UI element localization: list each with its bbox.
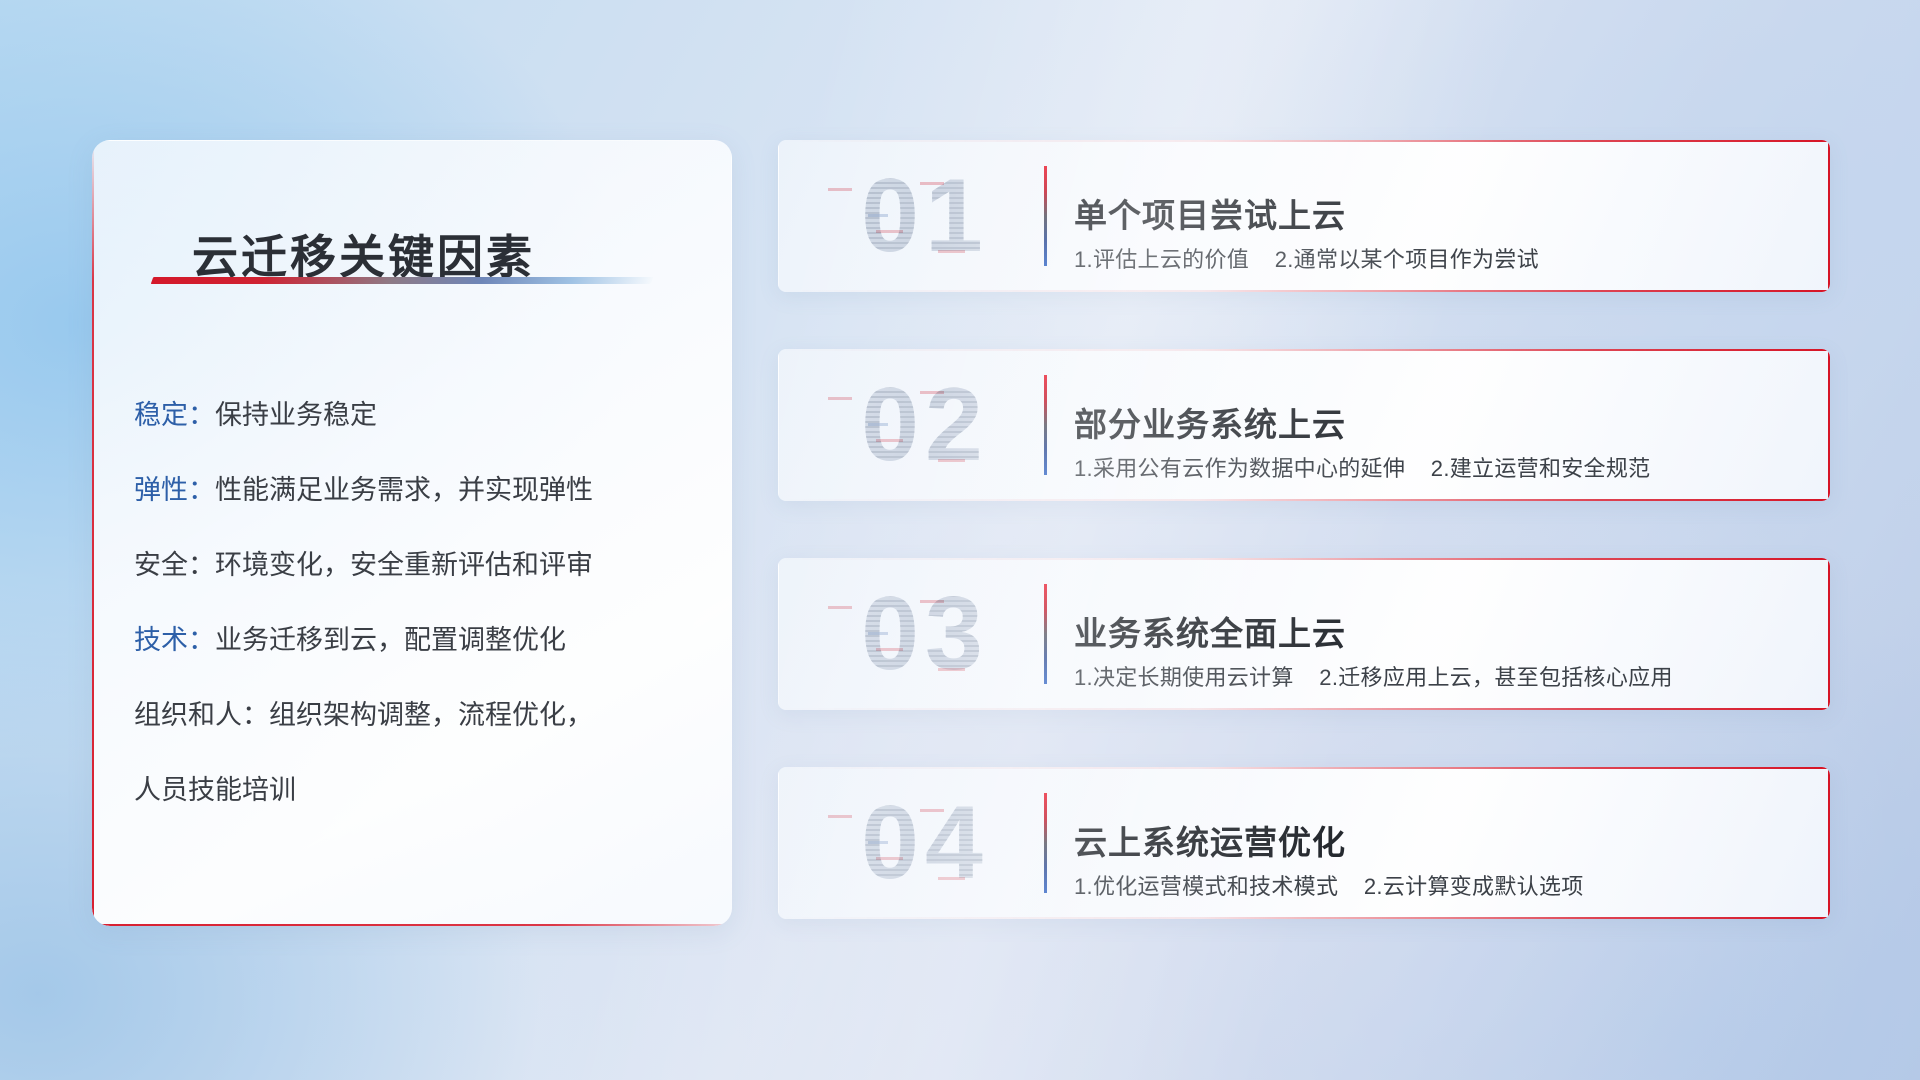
key-factor-label: 组织和人： (134, 700, 269, 730)
key-factor-value: 人员技能培训 (134, 775, 296, 805)
stage-number: 01 (820, 152, 1030, 280)
stage-divider-bar (1044, 375, 1047, 475)
key-factor-label: 稳定： (134, 400, 215, 430)
key-factor-label: 弹性： (134, 475, 215, 505)
stage-card[interactable]: 04云上系统运营优化1.优化运营模式和技术模式 2.云计算变成默认选项 (778, 767, 1830, 919)
stage-divider-bar (1044, 584, 1047, 684)
key-factor-line: 稳定：保持业务稳定 (134, 378, 706, 453)
key-factor-value: 组织架构调整，流程优化， (269, 700, 593, 730)
key-factor-line: 组织和人：组织架构调整，流程优化， (134, 678, 706, 753)
stage-title: 云上系统运营优化 (1074, 816, 1346, 864)
stage-card[interactable]: 01单个项目尝试上云1.评估上云的价值 2.通常以某个项目作为尝试 (778, 140, 1830, 292)
stage-number: 03 (820, 570, 1030, 698)
key-factor-label: 技术： (134, 625, 215, 655)
stage-title: 部分业务系统上云 (1074, 398, 1346, 446)
stage-number: 04 (820, 779, 1030, 907)
key-factor-line: 安全：环境变化，安全重新评估和评审 (134, 528, 706, 603)
stage-title: 单个项目尝试上云 (1074, 189, 1346, 237)
key-factor-value: 保持业务稳定 (215, 400, 377, 430)
key-factor-line: 技术：业务迁移到云，配置调整优化 (134, 603, 706, 678)
stage-description: 1.评估上云的价值 2.通常以某个项目作为尝试 (1074, 242, 1539, 274)
key-factor-line: 人员技能培训 (134, 753, 706, 828)
slide-canvas: 云迁移关键因素 稳定：保持业务稳定弹性：性能满足业务需求，并实现弹性安全：环境变… (0, 0, 1920, 1080)
key-factors-list: 稳定：保持业务稳定弹性：性能满足业务需求，并实现弹性安全：环境变化，安全重新评估… (134, 378, 706, 828)
key-factors-panel: 云迁移关键因素 稳定：保持业务稳定弹性：性能满足业务需求，并实现弹性安全：环境变… (92, 140, 732, 926)
stage-description: 1.决定长期使用云计算 2.迁移应用上云，甚至包括核心应用 (1074, 660, 1673, 692)
title-underline-rule (151, 277, 654, 284)
stage-divider-bar (1044, 166, 1047, 266)
migration-stage-cards: 01单个项目尝试上云1.评估上云的价值 2.通常以某个项目作为尝试02部分业务系… (778, 140, 1830, 976)
stage-number: 02 (820, 361, 1030, 489)
key-factor-value: 业务迁移到云，配置调整优化 (215, 625, 566, 655)
key-factor-value: 环境变化，安全重新评估和评审 (215, 550, 593, 580)
stage-card[interactable]: 03业务系统全面上云1.决定长期使用云计算 2.迁移应用上云，甚至包括核心应用 (778, 558, 1830, 710)
key-factor-value: 性能满足业务需求，并实现弹性 (215, 475, 593, 505)
stage-card[interactable]: 02部分业务系统上云1.采用公有云作为数据中心的延伸 2.建立运营和安全规范 (778, 349, 1830, 501)
key-factor-label: 安全： (134, 550, 215, 580)
stage-divider-bar (1044, 793, 1047, 893)
stage-description: 1.优化运营模式和技术模式 2.云计算变成默认选项 (1074, 869, 1584, 901)
stage-description: 1.采用公有云作为数据中心的延伸 2.建立运营和安全规范 (1074, 451, 1650, 483)
stage-title: 业务系统全面上云 (1074, 607, 1346, 655)
key-factor-line: 弹性：性能满足业务需求，并实现弹性 (134, 453, 706, 528)
